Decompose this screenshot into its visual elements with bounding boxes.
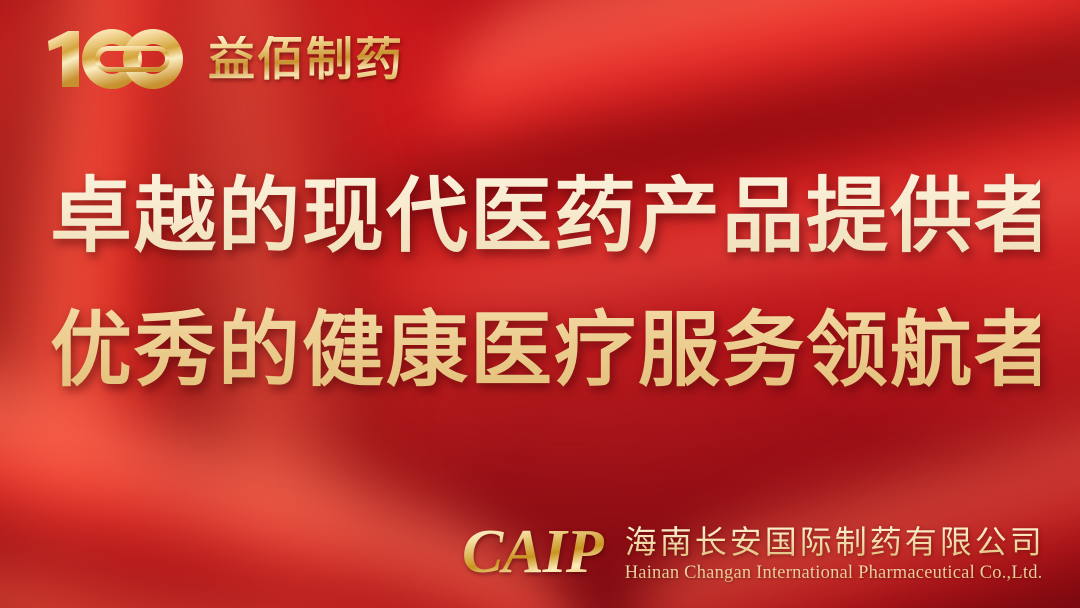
headline-line-2: 优秀的健康医疗服务领航者。 (50, 284, 1040, 418)
company-name-en: Hainan Changan International Pharmaceuti… (625, 562, 1045, 584)
headline-line-1: 卓越的现代医药产品提供者， (50, 150, 1040, 284)
banner-canvas: 益佰制药 卓越的现代医药产品提供者， 优秀的健康医疗服务领航者。 CAIP 海南… (0, 0, 1080, 608)
company-name-block: 海南长安国际制药有限公司 Hainan Changan Internationa… (625, 520, 1045, 584)
brand-logo-lockup: 益佰制药 (46, 24, 404, 94)
caip-logo-text: CAIP (462, 521, 607, 583)
headline-block: 卓越的现代医药产品提供者， 优秀的健康医疗服务领航者。 (50, 150, 1040, 418)
company-name-cn: 海南长安国际制药有限公司 (625, 524, 1045, 560)
hundred-chainlink-icon (46, 27, 192, 91)
company-lockup: CAIP 海南长安国际制药有限公司 Hainan Changan Interna… (462, 520, 1045, 584)
brand-name-cn: 益佰制药 (208, 36, 404, 83)
